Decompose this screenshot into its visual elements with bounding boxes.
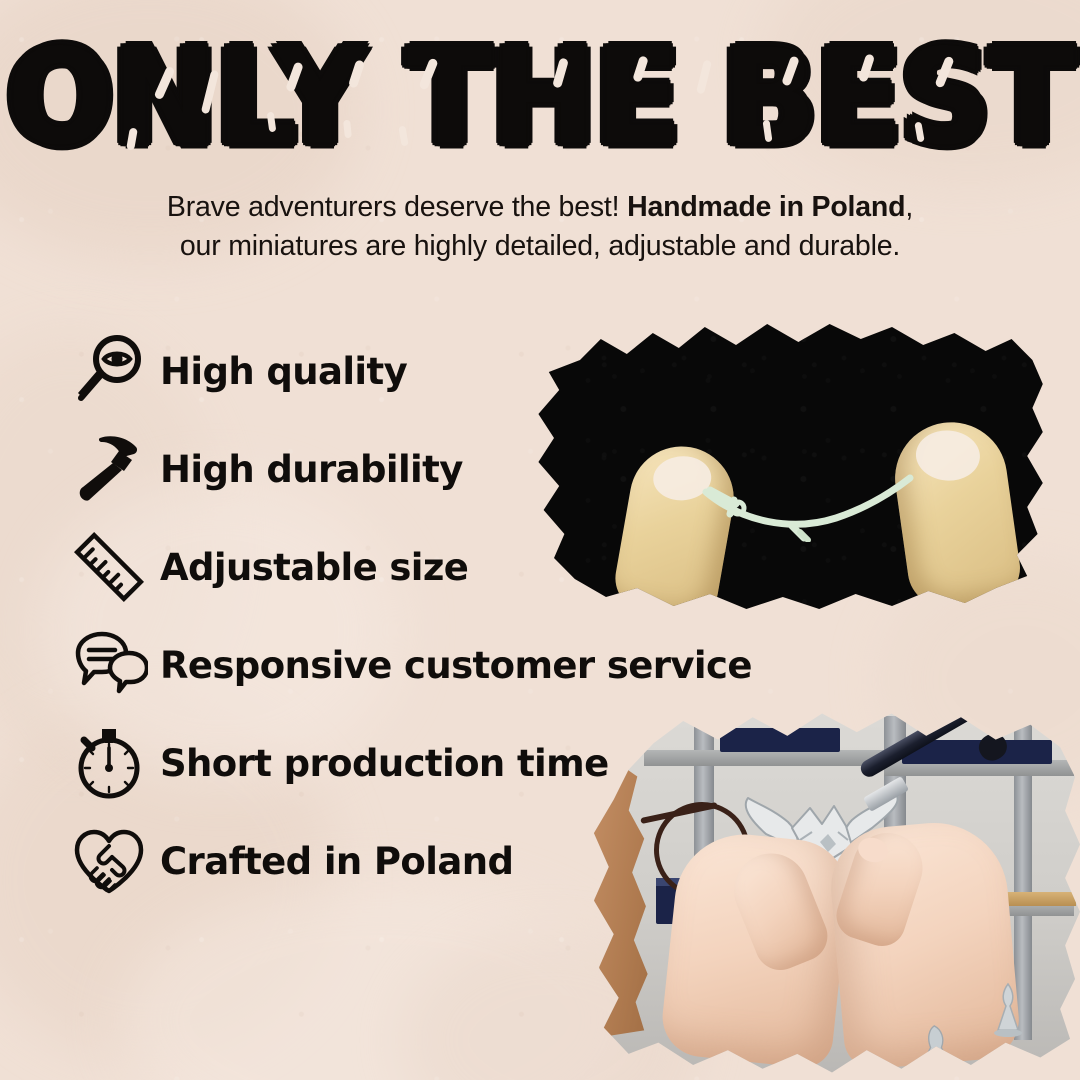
subtitle-line-1: Brave adventurers deserve the best! Hand… (0, 188, 1080, 227)
heart-handshake-icon (66, 818, 152, 904)
feature-label: Short production time (160, 742, 609, 785)
fingernail (914, 428, 981, 482)
miniature-tray (720, 728, 840, 752)
subtitle-highlight: Handmade in Poland (627, 191, 905, 223)
fingernail (652, 454, 713, 502)
finger-left (610, 438, 742, 618)
feature-label: High durability (160, 448, 463, 491)
torn-black-backdrop (528, 318, 1048, 618)
headline-text: ONLY THE BEST (7, 31, 1074, 163)
ruler-icon (66, 524, 152, 610)
workshop-hands-dragon-miniature-photo (584, 706, 1080, 1080)
chat-bubbles-icon (66, 622, 152, 708)
subtitle-text-a: Brave adventurers deserve the best! (167, 191, 627, 223)
hammer-icon (66, 426, 152, 512)
stopwatch-icon (66, 720, 152, 806)
subtitle: Brave adventurers deserve the best! Hand… (0, 188, 1080, 266)
background-wash (120, 880, 640, 1080)
headline: ONLY THE BEST (0, 38, 1080, 156)
feature-label: Crafted in Poland (160, 840, 513, 883)
magnifier-eye-icon (66, 328, 152, 414)
feature-label: Responsive customer service (160, 644, 752, 687)
feature-label: Adjustable size (160, 546, 468, 589)
feature-label: High quality (160, 350, 407, 393)
infographic-page: ONLY THE BEST Brave adventurers deserve … (0, 0, 1080, 1080)
torn-photo-frame (584, 706, 1080, 1080)
subtitle-line-2: our miniatures are highly detailed, adju… (0, 227, 1080, 266)
fingers-stretching-miniature-photo (528, 318, 1048, 618)
subtitle-text-b: , (905, 191, 913, 223)
finger-right (888, 415, 1024, 611)
feature-item-responsive-customer-service: Responsive customer service (66, 616, 786, 714)
